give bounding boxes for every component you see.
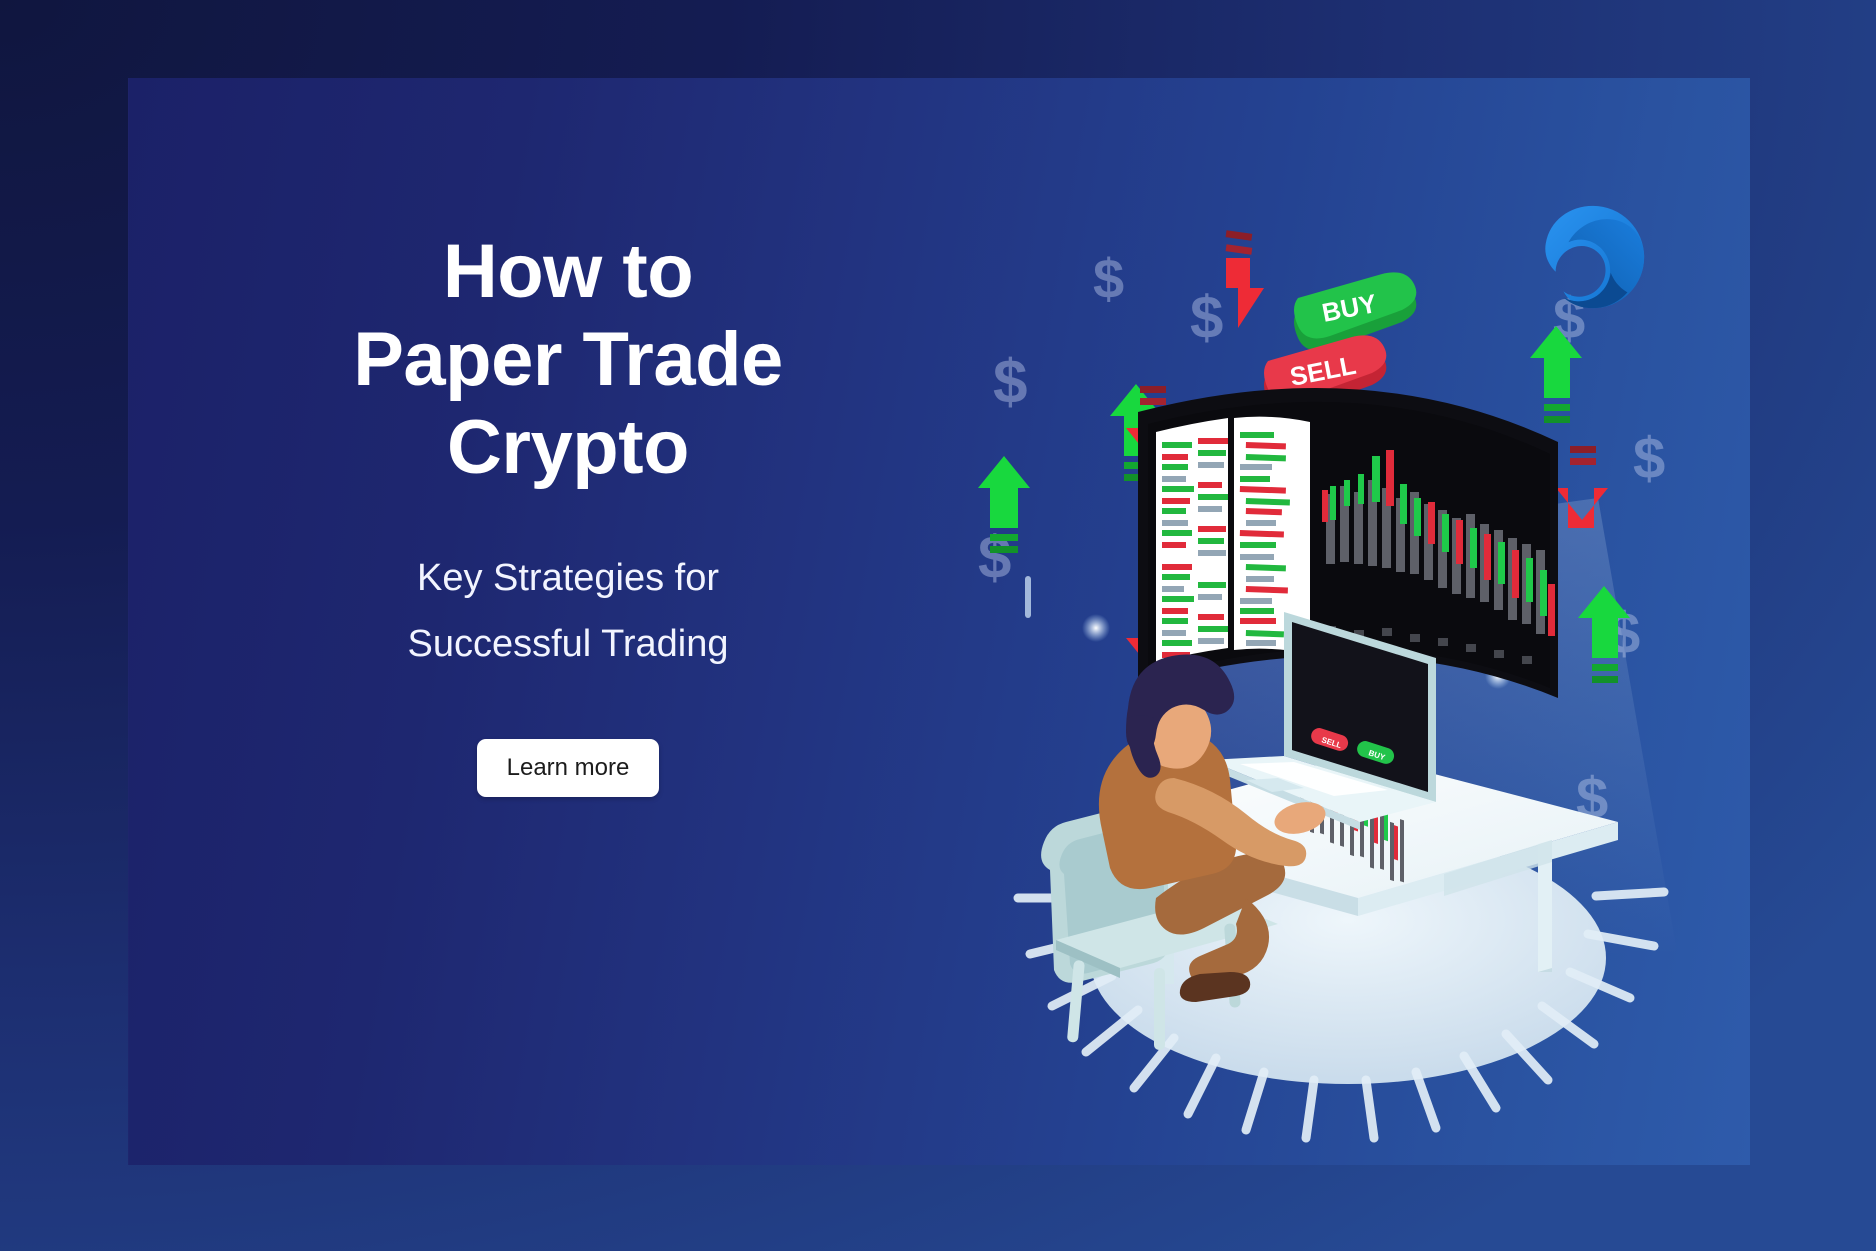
sparkle-icon — [1082, 614, 1110, 642]
page-subtitle: Key Strategies for Successful Trading — [288, 546, 848, 677]
edge-swirl-logo — [1534, 198, 1652, 316]
dollar-symbol: $ — [1093, 247, 1124, 310]
headline-line-2: Paper Trade — [288, 316, 848, 404]
dollar-symbol: $ — [993, 348, 1027, 417]
isometric-crypto-trader-illustration: $ $ $ $ $ $ $ $ — [978, 198, 1750, 1158]
banner-card: How to Paper Trade Crypto Key Strategies… — [128, 78, 1750, 1165]
headline-line-3: Crypto — [288, 404, 848, 492]
order-book-panel-left — [1156, 418, 1228, 662]
learn-more-button[interactable]: Learn more — [477, 739, 659, 797]
hero-copy: How to Paper Trade Crypto Key Strategies… — [288, 228, 848, 797]
light-streak — [1025, 576, 1031, 618]
page-title: How to Paper Trade Crypto — [288, 228, 848, 492]
dollar-symbol: $ — [1633, 426, 1665, 491]
banner-canvas: How to Paper Trade Crypto Key Strategies… — [0, 0, 1876, 1251]
subhead-line-2: Successful Trading — [288, 612, 848, 677]
subhead-line-1: Key Strategies for — [288, 546, 848, 611]
dollar-symbol: $ — [1190, 284, 1223, 351]
headline-line-1: How to — [288, 228, 848, 316]
